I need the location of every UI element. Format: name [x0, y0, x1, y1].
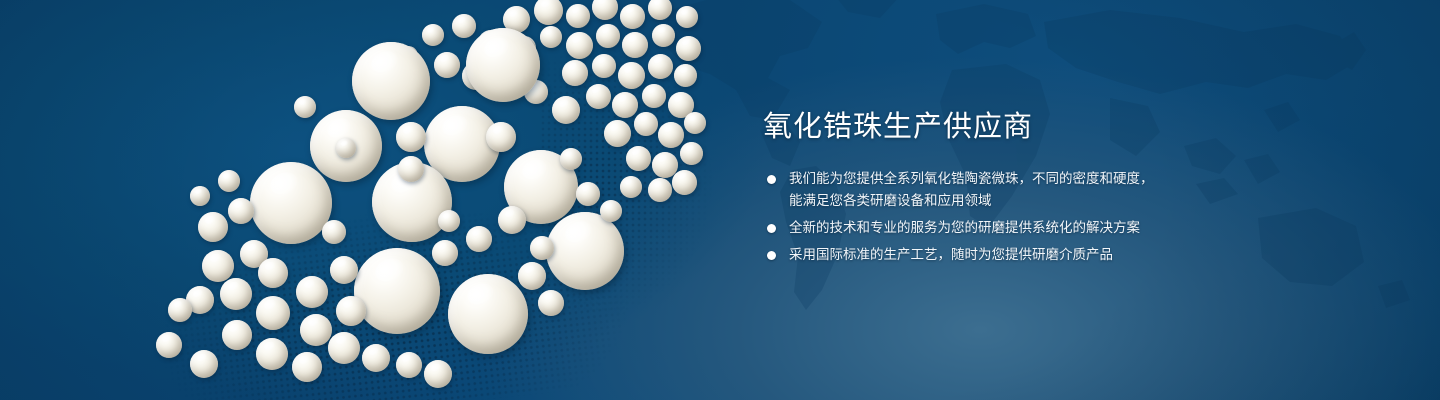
feature-text-line1: 全新的技术和专业的服务为您的研磨提供系统化的解决方案	[789, 220, 1140, 235]
list-item: 全新的技术和专业的服务为您的研磨提供系统化的解决方案	[763, 217, 1233, 239]
bullet-dot-icon	[767, 224, 776, 233]
feature-list: 我们能为您提供全系列氧化锆陶瓷微珠，不同的密度和硬度， 能满足您各类研磨设备和应…	[763, 168, 1233, 266]
bullet-dot-icon	[767, 175, 776, 184]
list-item: 采用国际标准的生产工艺，随时为您提供研磨介质产品	[763, 244, 1233, 266]
feature-text-line1: 我们能为您提供全系列氧化锆陶瓷微珠，不同的密度和硬度，	[789, 171, 1154, 186]
hero-copy: 氧化锆珠生产供应商 我们能为您提供全系列氧化锆陶瓷微珠，不同的密度和硬度， 能满…	[763, 108, 1233, 271]
hero-banner: 氧化锆珠生产供应商 我们能为您提供全系列氧化锆陶瓷微珠，不同的密度和硬度， 能满…	[0, 0, 1440, 400]
page-title: 氧化锆珠生产供应商	[763, 108, 1233, 146]
list-item: 我们能为您提供全系列氧化锆陶瓷微珠，不同的密度和硬度， 能满足您各类研磨设备和应…	[763, 168, 1233, 212]
bullet-dot-icon	[767, 251, 776, 260]
feature-text-line2: 能满足您各类研磨设备和应用领域	[789, 190, 1233, 212]
feature-text-line1: 采用国际标准的生产工艺，随时为您提供研磨介质产品	[789, 247, 1113, 262]
